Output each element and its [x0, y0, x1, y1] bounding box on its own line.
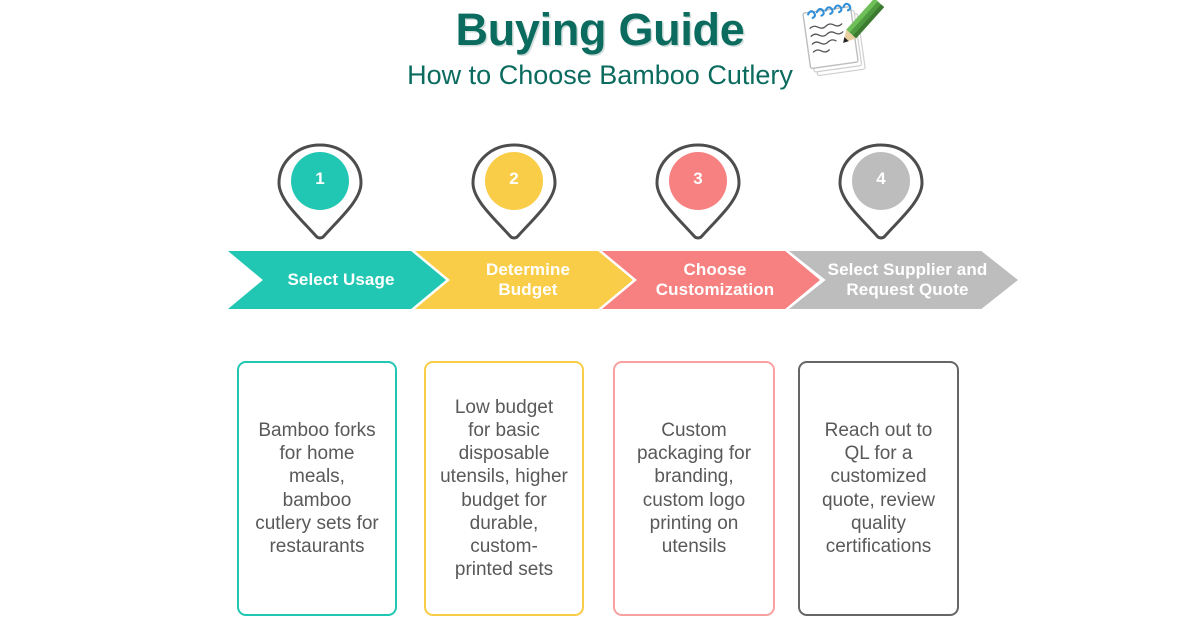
step-ribbon-1-shape — [228, 251, 446, 309]
step-ribbon-3[interactable]: Choose Customization — [602, 251, 820, 309]
step-ribbon-4[interactable]: Select Supplier and Request Quote — [789, 251, 1018, 309]
step-card-2[interactable]: Low budget for basic disposable utensils… — [424, 361, 584, 616]
step-ribbon-4-shape — [789, 251, 1018, 309]
page-subtitle: How to Choose Bamboo Cutlery — [0, 60, 1200, 91]
page-title: Buying Guide — [0, 4, 1200, 56]
step-ribbon-group: Select Usage Determine Budget Choose Cus… — [228, 251, 1018, 311]
step-card-4[interactable]: Reach out to QL for a customized quote, … — [798, 361, 959, 616]
step-card-2-text: Low budget for basic disposable utensils… — [432, 396, 576, 581]
step-pin-1[interactable]: 1 — [270, 140, 370, 240]
step-card-1-text: Bamboo forks for home meals, bamboo cutl… — [247, 419, 387, 558]
step-card-3-text: Custom packaging for branding, custom lo… — [629, 419, 759, 558]
step-pin-4[interactable]: 4 — [831, 140, 931, 240]
step-pin-2[interactable]: 2 — [464, 140, 564, 240]
step-ribbon-2-shape — [415, 251, 633, 309]
step-ribbon-3-shape — [602, 251, 820, 309]
step-card-3[interactable]: Custom packaging for branding, custom lo… — [613, 361, 775, 616]
step-ribbon-2[interactable]: Determine Budget — [415, 251, 633, 309]
step-ribbon-1[interactable]: Select Usage — [228, 251, 446, 309]
step-card-4-text: Reach out to QL for a customized quote, … — [814, 419, 943, 558]
notepad-pencil-icon — [797, 0, 887, 80]
step-pin-3[interactable]: 3 — [648, 140, 748, 240]
header: Buying Guide How to Choose Bamboo Cutler… — [0, 0, 1200, 110]
step-card-1[interactable]: Bamboo forks for home meals, bamboo cutl… — [237, 361, 397, 616]
